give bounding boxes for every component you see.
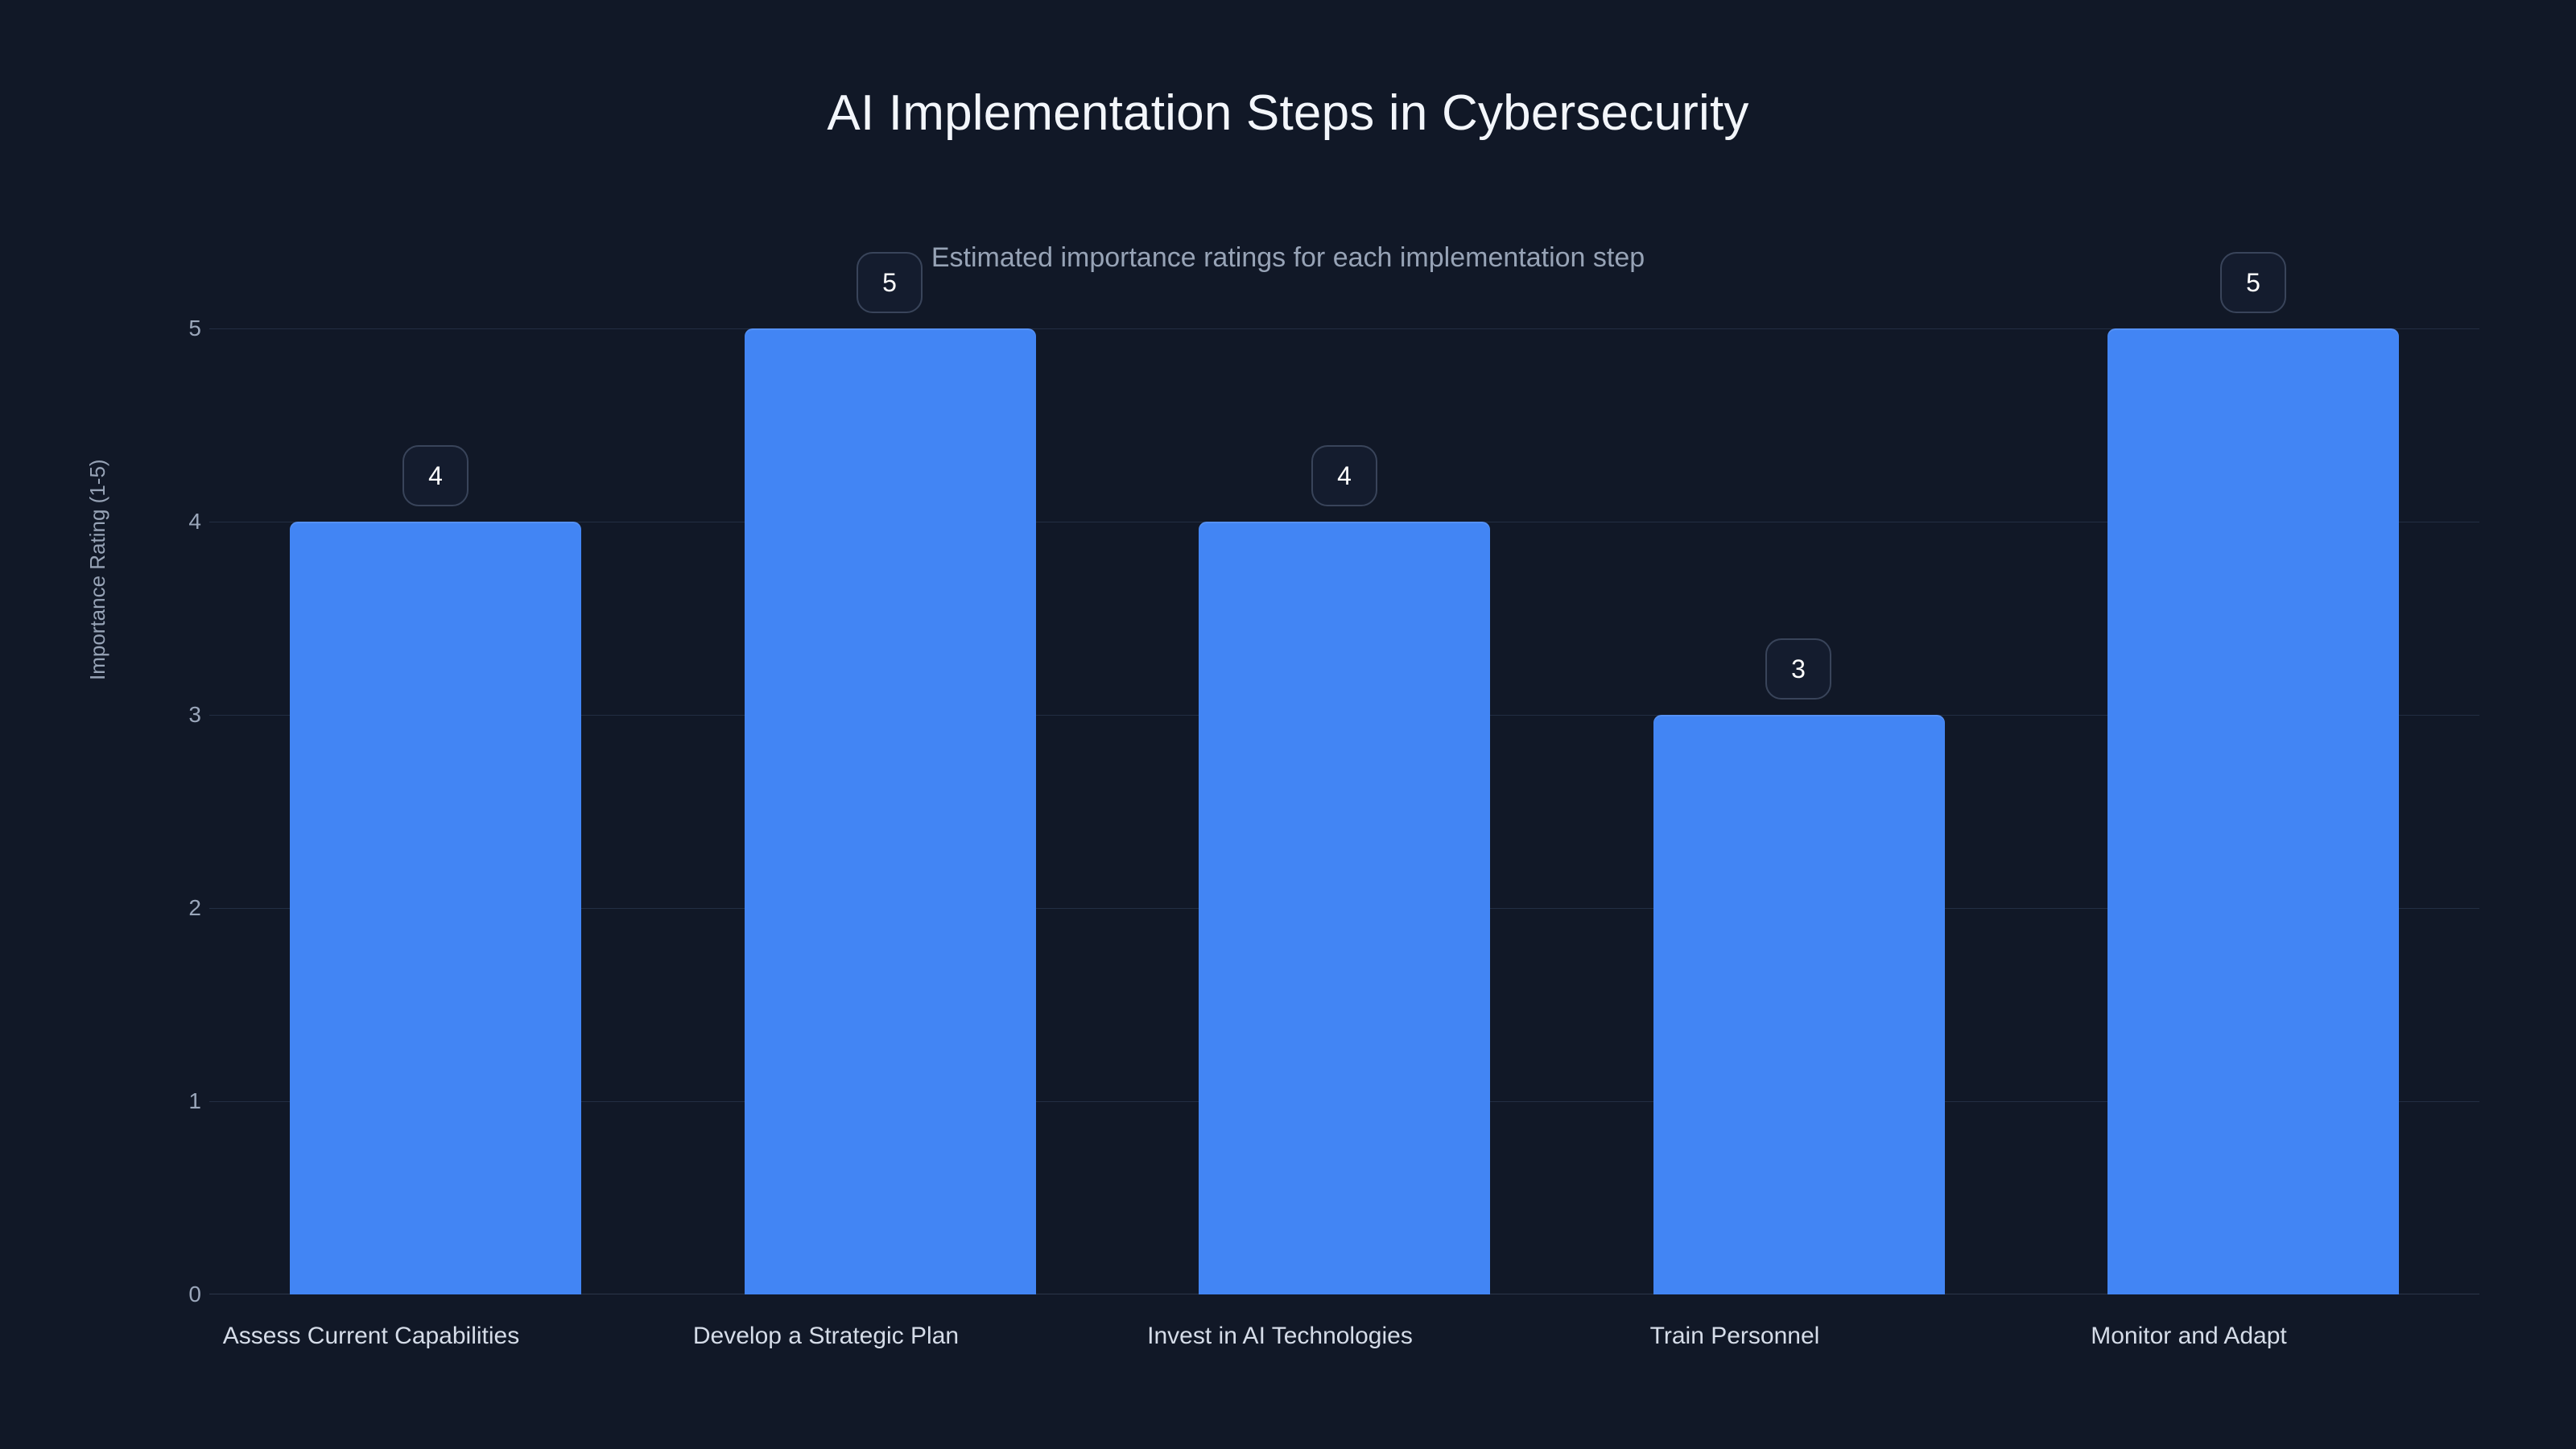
chart-subtitle: Estimated importance ratings for each im… (0, 244, 2576, 271)
x-tick-label-train-personnel: Train Personnel (1509, 1324, 1960, 1348)
value-badge-assess-current-capabilities: 4 (402, 445, 469, 506)
value-badge-invest-in-ai-technologies: 4 (1311, 445, 1377, 506)
bar-assess-current-capabilities[interactable] (290, 522, 581, 1294)
bar-chart-canvas: AI Implementation Steps in Cybersecurity… (0, 0, 2576, 1449)
y-tick-label-3: 3 (105, 704, 201, 726)
value-badge-train-personnel: 3 (1765, 638, 1831, 700)
bar-train-personnel[interactable] (1653, 715, 1945, 1294)
bar-monitor-and-adapt[interactable] (2107, 328, 2399, 1294)
value-badge-monitor-and-adapt: 5 (2220, 252, 2286, 313)
y-tick-label-5: 5 (105, 317, 201, 340)
bar-invest-in-ai-technologies[interactable] (1199, 522, 1490, 1294)
value-badge-develop-a-strategic-plan: 5 (857, 252, 923, 313)
x-tick-label-develop-a-strategic-plan: Develop a Strategic Plan (601, 1324, 1051, 1348)
y-tick-label-4: 4 (105, 510, 201, 533)
x-tick-label-assess-current-capabilities: Assess Current Capabilities (146, 1324, 597, 1348)
y-tick-label-0: 0 (105, 1283, 201, 1306)
x-tick-label-monitor-and-adapt: Monitor and Adapt (1963, 1324, 2414, 1348)
bar-develop-a-strategic-plan[interactable] (745, 328, 1036, 1294)
y-tick-label-1: 1 (105, 1090, 201, 1113)
y-tick-label-2: 2 (105, 897, 201, 919)
y-axis-title: Importance Rating (1-5) (87, 459, 108, 680)
chart-title: AI Implementation Steps in Cybersecurity (0, 89, 2576, 138)
x-tick-label-invest-in-ai-technologies: Invest in AI Technologies (1055, 1324, 1505, 1348)
